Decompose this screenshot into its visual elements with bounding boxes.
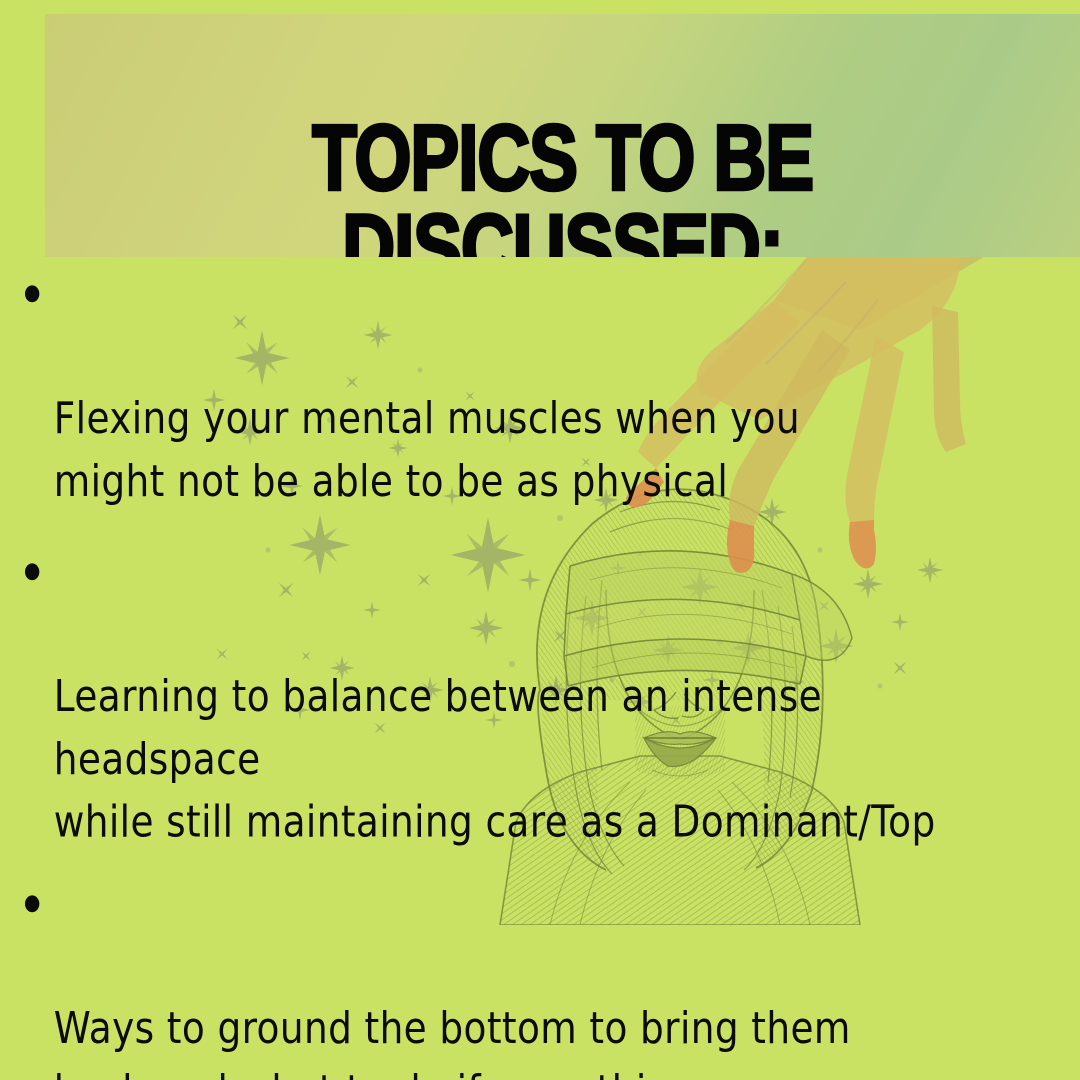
page-title: TOPICS TO BE DISCUSSED:	[120, 114, 1005, 257]
list-item: Ways to ground the bottom to bring them …	[0, 873, 1037, 1080]
list-item: Flexing your mental muscles when you mig…	[0, 263, 1037, 514]
list-item: Learning to balance between an intense h…	[0, 541, 1037, 855]
topics-list: Flexing your mental muscles when you mig…	[0, 255, 1080, 1080]
title-banner: TOPICS TO BE DISCUSSED:	[45, 14, 1080, 257]
bullet-icon	[25, 563, 39, 580]
poster-canvas: TOPICS TO BE DISCUSSED: Flexing your men…	[0, 0, 1080, 1080]
bullet-icon	[25, 285, 39, 302]
bullet-icon	[25, 895, 39, 912]
topic-text: Flexing your mental muscles when you mig…	[54, 394, 800, 507]
topic-text: Learning to balance between an intense h…	[54, 672, 936, 848]
topic-text: Ways to ground the bottom to bring them …	[54, 1004, 928, 1080]
